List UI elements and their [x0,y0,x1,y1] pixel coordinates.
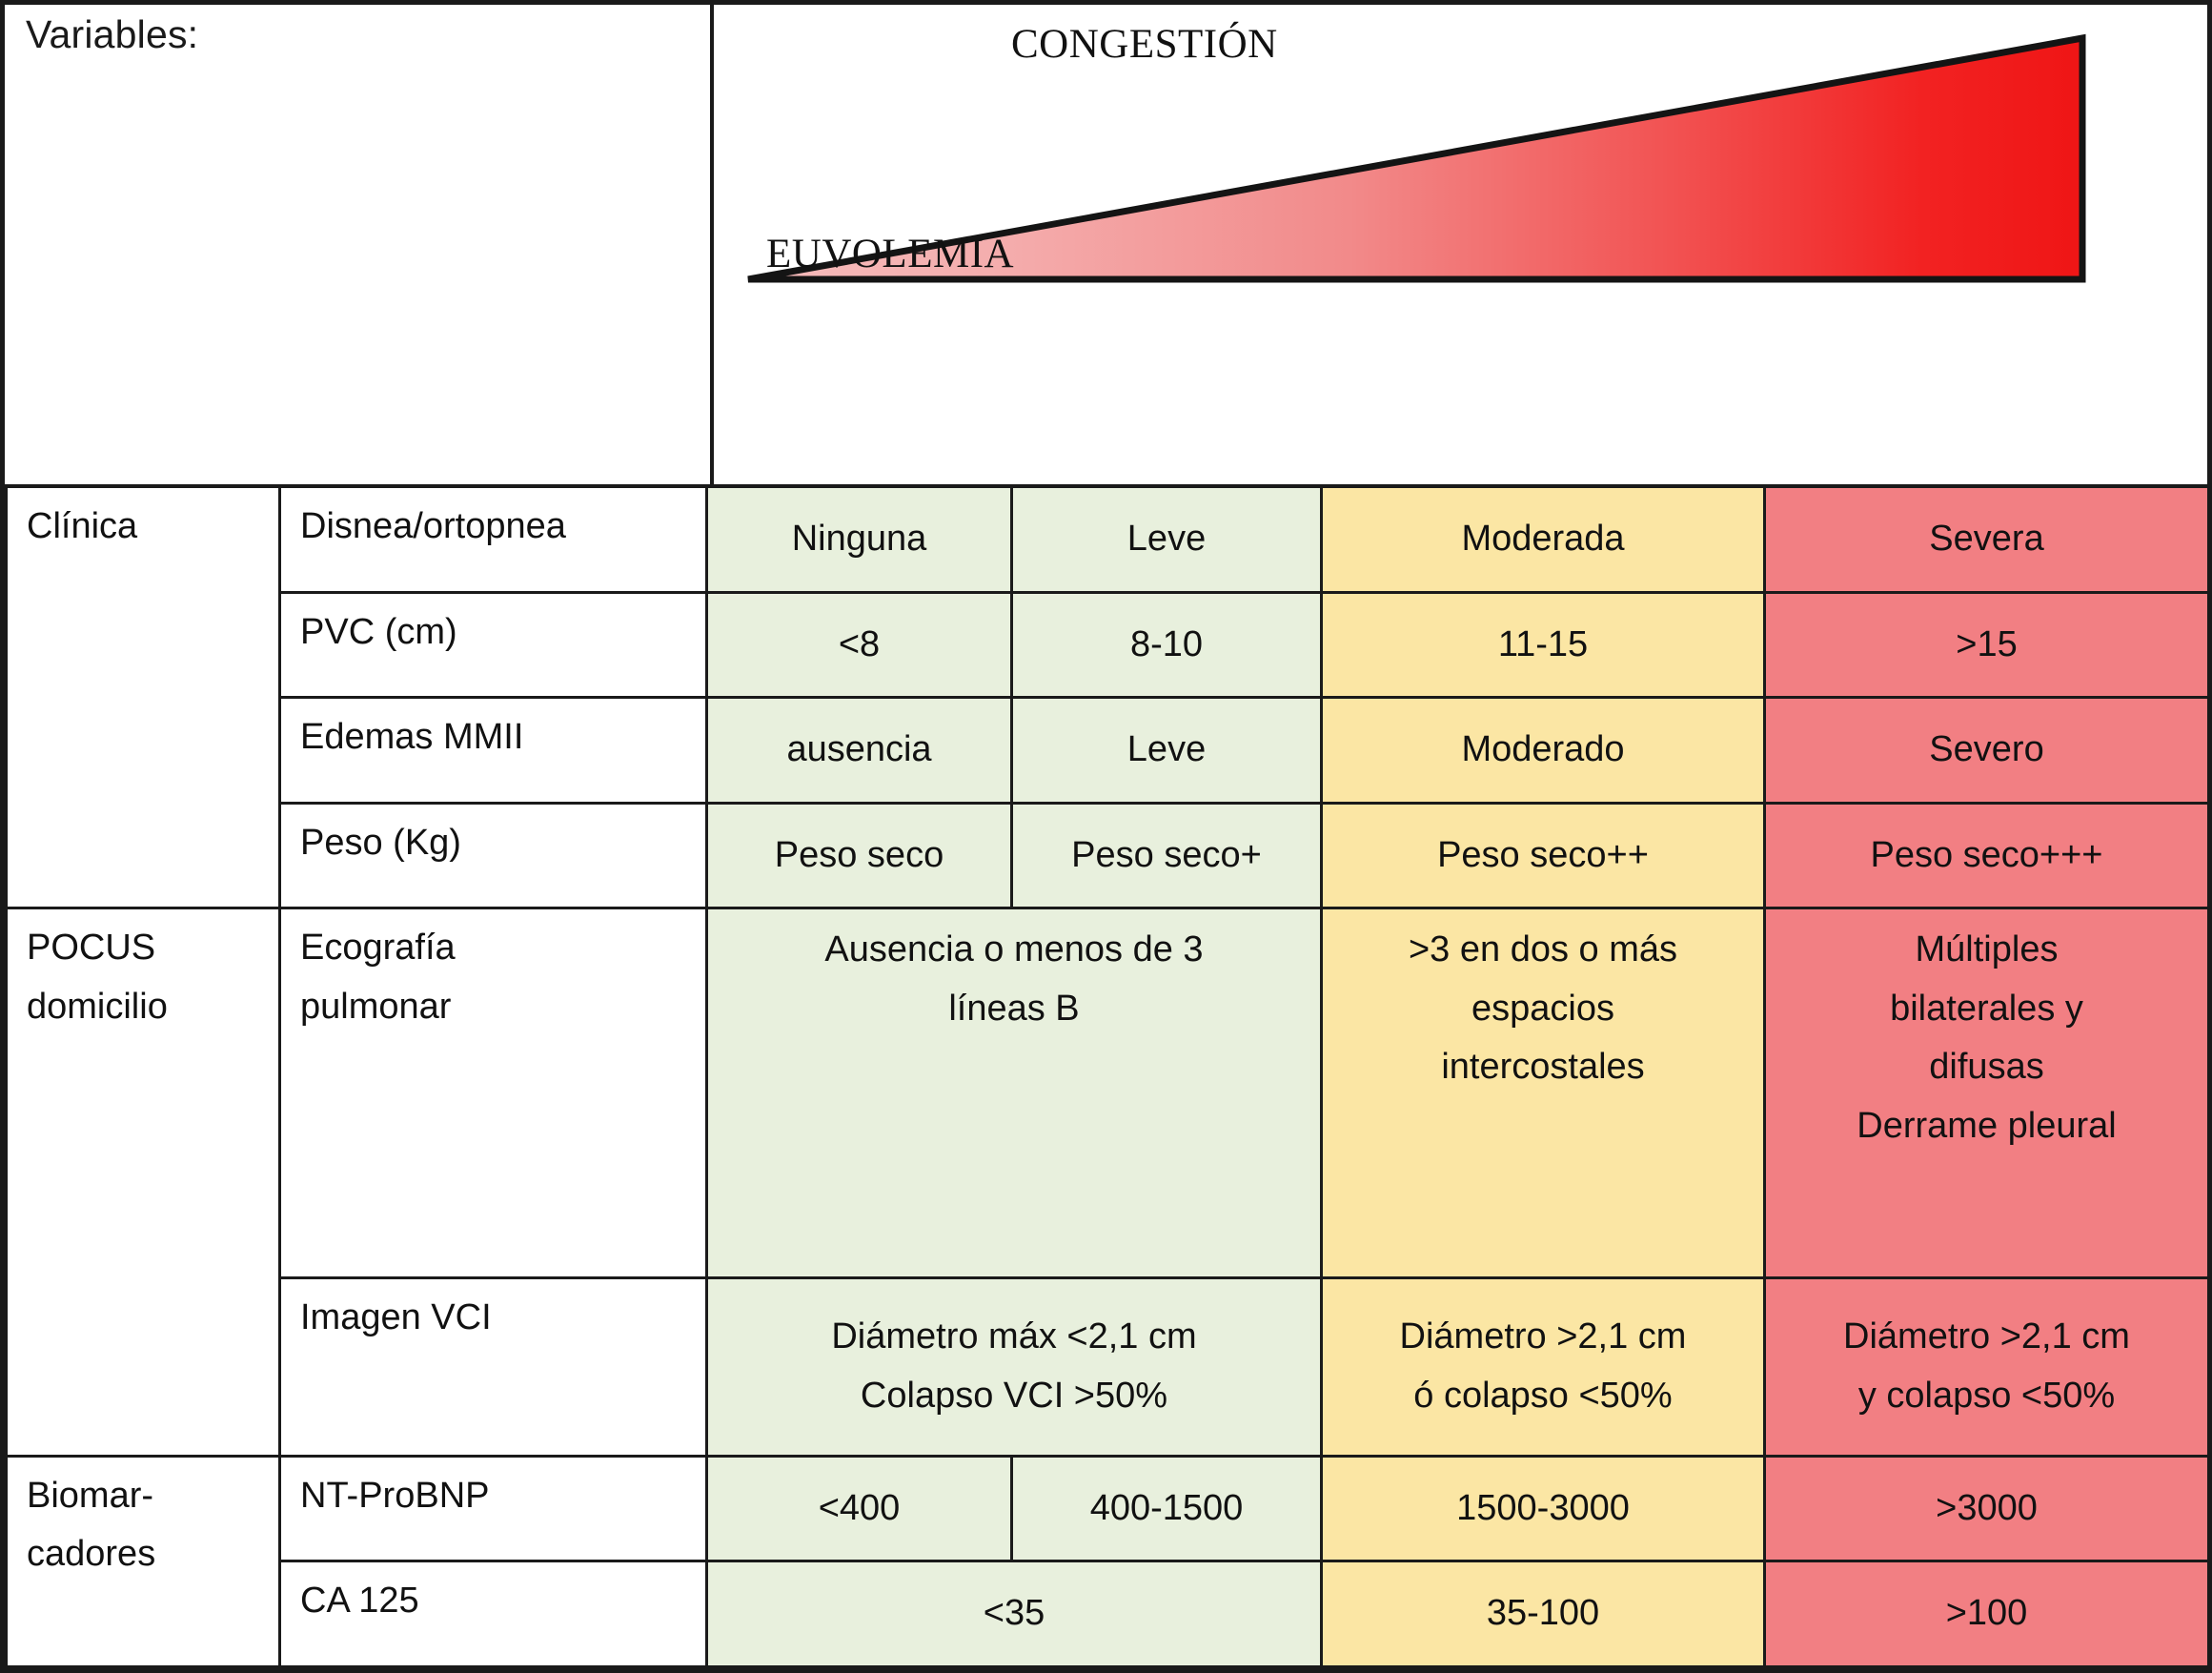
cell-vci-severe-line2: y colapso <50% [1772,1367,2202,1426]
cell-disnea-severe: Severa [1765,487,2209,593]
cell-ntprobnp-moderate: 1500-3000 [1322,1456,1765,1561]
cell-vci-none-line2: Colapso VCI >50% [714,1367,1314,1426]
cell-ca125-severe: >100 [1765,1561,2209,1667]
group-label-biomarcadores: Biomar- cadores [7,1456,280,1666]
row-label-ecografia-pulmonar: Ecografía pulmonar [280,908,707,1277]
cell-ntprobnp-severe: >3000 [1765,1456,2209,1561]
cell-vci-moderate: Diámetro >2,1 cm ó colapso <50% [1322,1277,1765,1456]
header-band: Variables: CONGESTIÓN EUVOLEMI [5,5,2207,488]
row-label-disnea: Disnea/ortopnea [280,487,707,593]
table-row: CA 125 <35 35-100 >100 [7,1561,2209,1667]
cell-lung-us-severe: Múltiples bilaterales y difusas Derrame … [1765,908,2209,1277]
cell-vci-none-line1: Diámetro máx <2,1 cm [714,1308,1314,1367]
cell-lung-us-moderate-line3: intercostales [1329,1038,1757,1097]
group-label-clinica: Clínica [7,487,280,908]
group-label-pocus: POCUS domicilio [7,908,280,1456]
cell-vci-none: Diámetro máx <2,1 cm Colapso VCI >50% [707,1277,1322,1456]
cell-vci-moderate-line2: ó colapso <50% [1329,1367,1757,1426]
congestion-assessment-figure: Variables: CONGESTIÓN EUVOLEMI [0,0,2212,1673]
cell-peso-mild: Peso seco+ [1012,803,1322,908]
cell-vci-moderate-line1: Diámetro >2,1 cm [1329,1308,1757,1367]
group-label-pocus-line2: domicilio [27,978,273,1037]
cell-edemas-moderate: Moderado [1322,698,1765,804]
cell-disnea-moderate: Moderada [1322,487,1765,593]
congestion-gradient-triangle: CONGESTIÓN EUVOLEMIA [714,10,2212,484]
cell-ca125-moderate: 35-100 [1322,1561,1765,1667]
cell-lung-us-severe-line4: Derrame pleural [1772,1097,2202,1156]
cell-lung-us-severe-line3: difusas [1772,1038,2202,1097]
cell-peso-moderate: Peso seco++ [1322,803,1765,908]
row-label-imagen-vci: Imagen VCI [280,1277,707,1456]
cell-lung-us-severe-line1: Múltiples [1772,921,2202,980]
row-label-ntprobnp: NT-ProBNP [280,1456,707,1561]
row-label-peso: Peso (Kg) [280,803,707,908]
table-row: Peso (Kg) Peso seco Peso seco+ Peso seco… [7,803,2209,908]
group-label-pocus-line1: POCUS [27,919,273,978]
row-label-pvc: PVC (cm) [280,592,707,698]
cell-pvc-mild: 8-10 [1012,592,1322,698]
row-label-edemas: Edemas MMII [280,698,707,804]
group-label-biomarcadores-line1: Biomar- [27,1467,273,1526]
cell-ntprobnp-mild: 400-1500 [1012,1456,1322,1561]
cell-lung-us-moderate: >3 en dos o más espacios intercostales [1322,908,1765,1277]
cell-disnea-mild: Leve [1012,487,1322,593]
cell-edemas-severe: Severo [1765,698,2209,804]
table-row: Biomar- cadores NT-ProBNP <400 400-1500 … [7,1456,2209,1561]
cell-pvc-moderate: 11-15 [1322,592,1765,698]
cell-lung-us-moderate-line1: >3 en dos o más [1329,921,1757,980]
cell-vci-severe-line1: Diámetro >2,1 cm [1772,1308,2202,1367]
cell-lung-us-moderate-line2: espacios [1329,980,1757,1039]
cell-ntprobnp-none: <400 [707,1456,1012,1561]
cell-pvc-none: <8 [707,592,1012,698]
variables-label: Variables: [26,12,198,57]
cell-lung-us-none: Ausencia o menos de 3 líneas B [707,908,1322,1277]
table-row: Edemas MMII ausencia Leve Moderado Sever… [7,698,2209,804]
frame-border-bottom [0,1668,2212,1673]
table-row: POCUS domicilio Ecografía pulmonar Ausen… [7,908,2209,1277]
row-label-ecografia-line2: pulmonar [300,978,700,1037]
cell-pvc-severe: >15 [1765,592,2209,698]
cell-disnea-none: Ninguna [707,487,1012,593]
cell-ca125-none: <35 [707,1561,1322,1667]
cell-lung-us-none-line1: Ausencia o menos de 3 [714,921,1314,980]
cell-lung-us-none-line2: líneas B [714,980,1314,1039]
gradient-label-congestion: CONGESTIÓN [1011,21,1278,68]
cell-lung-us-severe-line2: bilaterales y [1772,980,2202,1039]
cell-peso-none: Peso seco [707,803,1012,908]
table-row: Imagen VCI Diámetro máx <2,1 cm Colapso … [7,1277,2209,1456]
cell-edemas-mild: Leve [1012,698,1322,804]
cell-peso-severe: Peso seco+++ [1765,803,2209,908]
group-label-biomarcadores-line2: cadores [27,1525,273,1584]
row-label-ecografia-line1: Ecografía [300,919,700,978]
table-row: Clínica Disnea/ortopnea Ninguna Leve Mod… [7,487,2209,593]
congestion-grading-table: Clínica Disnea/ortopnea Ninguna Leve Mod… [5,485,2210,1668]
cell-vci-severe: Diámetro >2,1 cm y colapso <50% [1765,1277,2209,1456]
row-label-ca125: CA 125 [280,1561,707,1667]
table-row: PVC (cm) <8 8-10 11-15 >15 [7,592,2209,698]
cell-edemas-none: ausencia [707,698,1012,804]
gradient-label-euvolemia: EUVOLEMIA [766,231,1014,277]
